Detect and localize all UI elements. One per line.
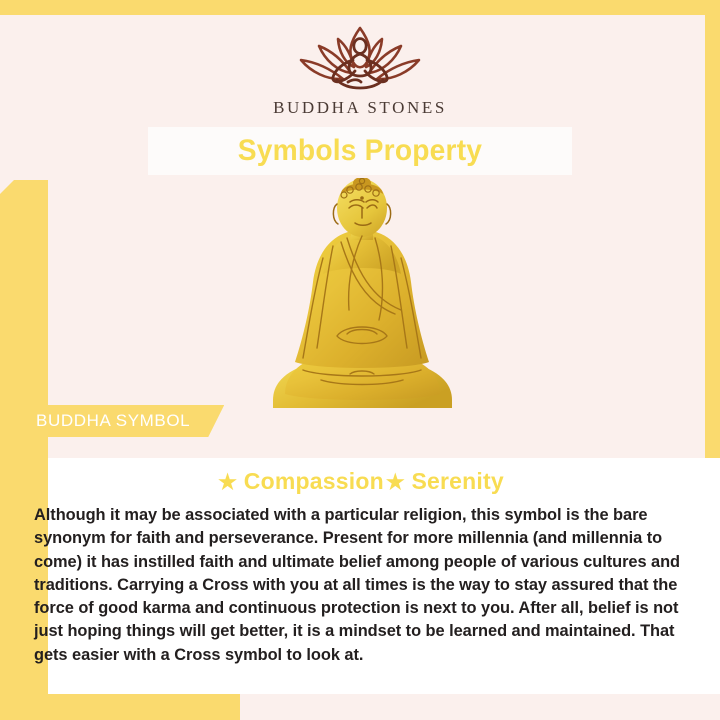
virtue-label-compassion: Compassion bbox=[244, 468, 384, 494]
page-title: Symbols Property bbox=[238, 134, 482, 168]
frame-bottom-left-border bbox=[0, 694, 240, 720]
virtue-list: ★ Compassion★ Serenity bbox=[26, 458, 698, 495]
star-icon-2: ★ bbox=[386, 471, 405, 494]
description-panel: ★ Compassion★ Serenity Although it may b… bbox=[48, 458, 720, 694]
brand-logo: BUDDHA STONES bbox=[0, 22, 720, 118]
frame-top-border bbox=[0, 0, 720, 15]
ribbon-label: BUDDHA SYMBOL bbox=[36, 411, 190, 431]
golden-seated-buddha-icon bbox=[255, 178, 470, 408]
description-paragraph: Although it may be associated with a par… bbox=[26, 504, 698, 667]
virtue-label-serenity: Serenity bbox=[411, 468, 503, 494]
title-banner: Symbols Property bbox=[148, 127, 572, 175]
buddha-symbol-ribbon: BUDDHA SYMBOL bbox=[18, 405, 224, 437]
star-icon-1: ★ bbox=[218, 471, 237, 494]
buddha-statue-image bbox=[255, 178, 470, 408]
promo-graphic: BUDDHA STONES Symbols Property bbox=[0, 0, 720, 720]
brand-name: BUDDHA STONES bbox=[0, 98, 720, 118]
lotus-meditation-figure-icon bbox=[275, 22, 445, 94]
